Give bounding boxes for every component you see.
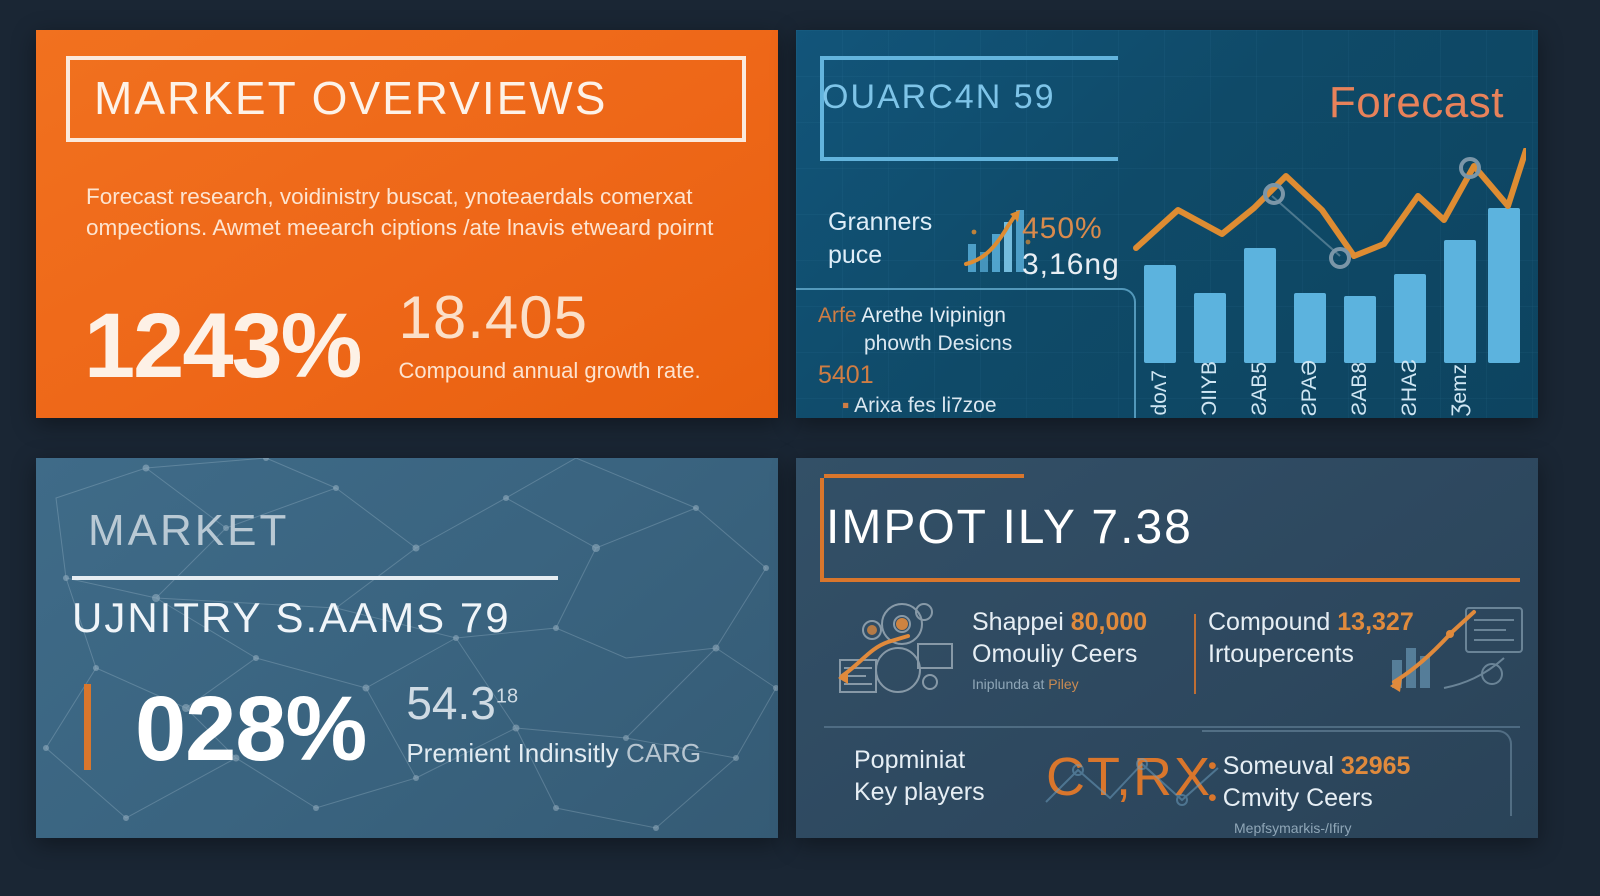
lower-line-4: Arixa fes li7zoe — [854, 394, 996, 417]
impact-cell-1-label-a: Shappei — [972, 608, 1064, 636]
chart-x-label: doʌ7 — [1148, 370, 1172, 416]
impact-header-label: IMPOT ILY 7.38 — [826, 500, 1193, 555]
impact-cell-4-value: 32965 — [1341, 752, 1411, 780]
orange-accent-bar — [84, 684, 91, 770]
market-overview-caption: Compound annual growth rate. — [398, 358, 700, 384]
quarterly-stat-values: 450% 3,16ng — [1022, 212, 1120, 282]
gear-analytics-icon — [832, 598, 962, 698]
chart-x-label: ƧPAƏ — [1298, 360, 1322, 416]
market-overview-big-number: 1243% — [84, 303, 360, 390]
chart-x-labels: doʌ7 ƆIIYB ƧAB5 ƧPAƏ ƧAB8 ƧHAƧ Ʒemz — [1126, 324, 1526, 418]
header-top-rule — [824, 56, 1094, 60]
panel-impact: IMPOT ILY 7.38 Shappei 80,000 Omouliy Ce… — [796, 458, 1538, 838]
quarterly-stat-sub: 3,16ng — [1022, 248, 1120, 282]
impact-cell-3-label-b: Key players — [854, 778, 985, 806]
forecast-chart: doʌ7 ƆIIYB ƧAB5 ƧPAƏ ƧAB8 ƧHAƧ Ʒemz — [1126, 148, 1526, 418]
chart-x-label: ƧHAƧ — [1398, 359, 1422, 416]
quarterly-stat-label: Grannerspuce — [828, 206, 932, 271]
lower-line-1: Arethe Ivipinign — [861, 304, 1006, 327]
market-overview-body-text: Forecast research, voidinistry buscat, y… — [86, 181, 762, 245]
impact-cell-2-label-a: Compound — [1208, 608, 1330, 636]
market-network-caption-strong: Premient Indinsitly — [406, 738, 618, 768]
panel-market-network: MARKET UJNITRY S.AAMS 79 028% 54.318 Pre… — [36, 458, 778, 838]
chart-x-label: Ʒemz — [1448, 364, 1472, 417]
impact-cell-4-bullet-b: Cmvity Ceers — [1223, 784, 1373, 812]
bullet-icon: • — [1208, 752, 1217, 780]
impact-cell-1-note-highlight: Piley — [1048, 676, 1078, 692]
impact-cell-1-note: Iniplunda at — [972, 676, 1048, 692]
impact-cell-1-label-b: Omouliy Ceers — [972, 640, 1137, 668]
impact-cell-1-value: 80,000 — [1071, 608, 1147, 636]
infographic-canvas: MARKET OVERVIEWS Forecast research, void… — [0, 0, 1600, 896]
market-network-divider — [72, 576, 558, 580]
lower-line-3: 5401 — [818, 359, 1118, 392]
market-network-kicker: MARKET — [88, 506, 289, 556]
market-overview-title-frame: MARKET OVERVIEWS — [66, 56, 746, 142]
forecast-title: Forecast — [1329, 78, 1504, 128]
market-overview-secondary-number: 18.405 — [398, 288, 700, 348]
bullet-icon: • — [1208, 784, 1217, 812]
panel-quarterly-forecast: OUARC4N 59 Grannerspuce 450% 3,16ng Arfe… — [796, 30, 1538, 418]
impact-cell-3-label-a: Popminiat — [854, 746, 965, 774]
impact-cell-4-bullet-a: Someuval — [1223, 752, 1334, 780]
market-network-caption-dim: CARG — [626, 738, 701, 768]
impact-cell-2-label-b: Irtoupercents — [1208, 640, 1354, 668]
market-network-subtitle: UJNITRY S.AAMS 79 — [72, 594, 511, 642]
panel-market-overview: MARKET OVERVIEWS Forecast research, void… — [36, 30, 778, 418]
market-overview-metrics: 1243% 18.405 Compound annual growth rate… — [84, 288, 701, 390]
market-network-secondary-small: 18 — [496, 686, 518, 708]
impact-cell-4-note: Mepfsymarkis-/Ifiry — [1208, 820, 1528, 836]
bar-growth-icon — [1388, 598, 1528, 694]
chart-x-label: ƆIIYB — [1198, 361, 1222, 416]
lower-line-2: phowth Desicns — [818, 330, 1118, 358]
impact-horizontal-divider — [824, 726, 1520, 728]
quarterly-lower-text: Arfe Arethe Ivipinign phowth Desicns 540… — [818, 302, 1118, 418]
page-title: MARKET OVERVIEWS — [94, 71, 607, 125]
impact-header-top-rule — [824, 474, 1024, 478]
chart-x-label: ƧAB8 — [1348, 362, 1372, 416]
quarterly-stat-percent: 450% — [1022, 212, 1103, 245]
market-network-metrics: 028% 54.318 Premient Indinsitly CARG — [84, 680, 701, 773]
chart-x-label: ƧAB5 — [1248, 362, 1272, 416]
impact-cell-4: •Someuval 32965 •Cmvity Ceers Mepfsymark… — [1208, 750, 1528, 836]
network-logo-icon — [1032, 742, 1232, 828]
lower-accent-word: Arfe — [818, 304, 857, 327]
market-network-big-number: 028% — [135, 686, 366, 773]
market-network-secondary-number: 54.3 — [406, 677, 496, 729]
lower-bullet-icon: ▪ — [842, 394, 849, 417]
quarterly-header-label: OUARC4N 59 — [822, 78, 1056, 117]
